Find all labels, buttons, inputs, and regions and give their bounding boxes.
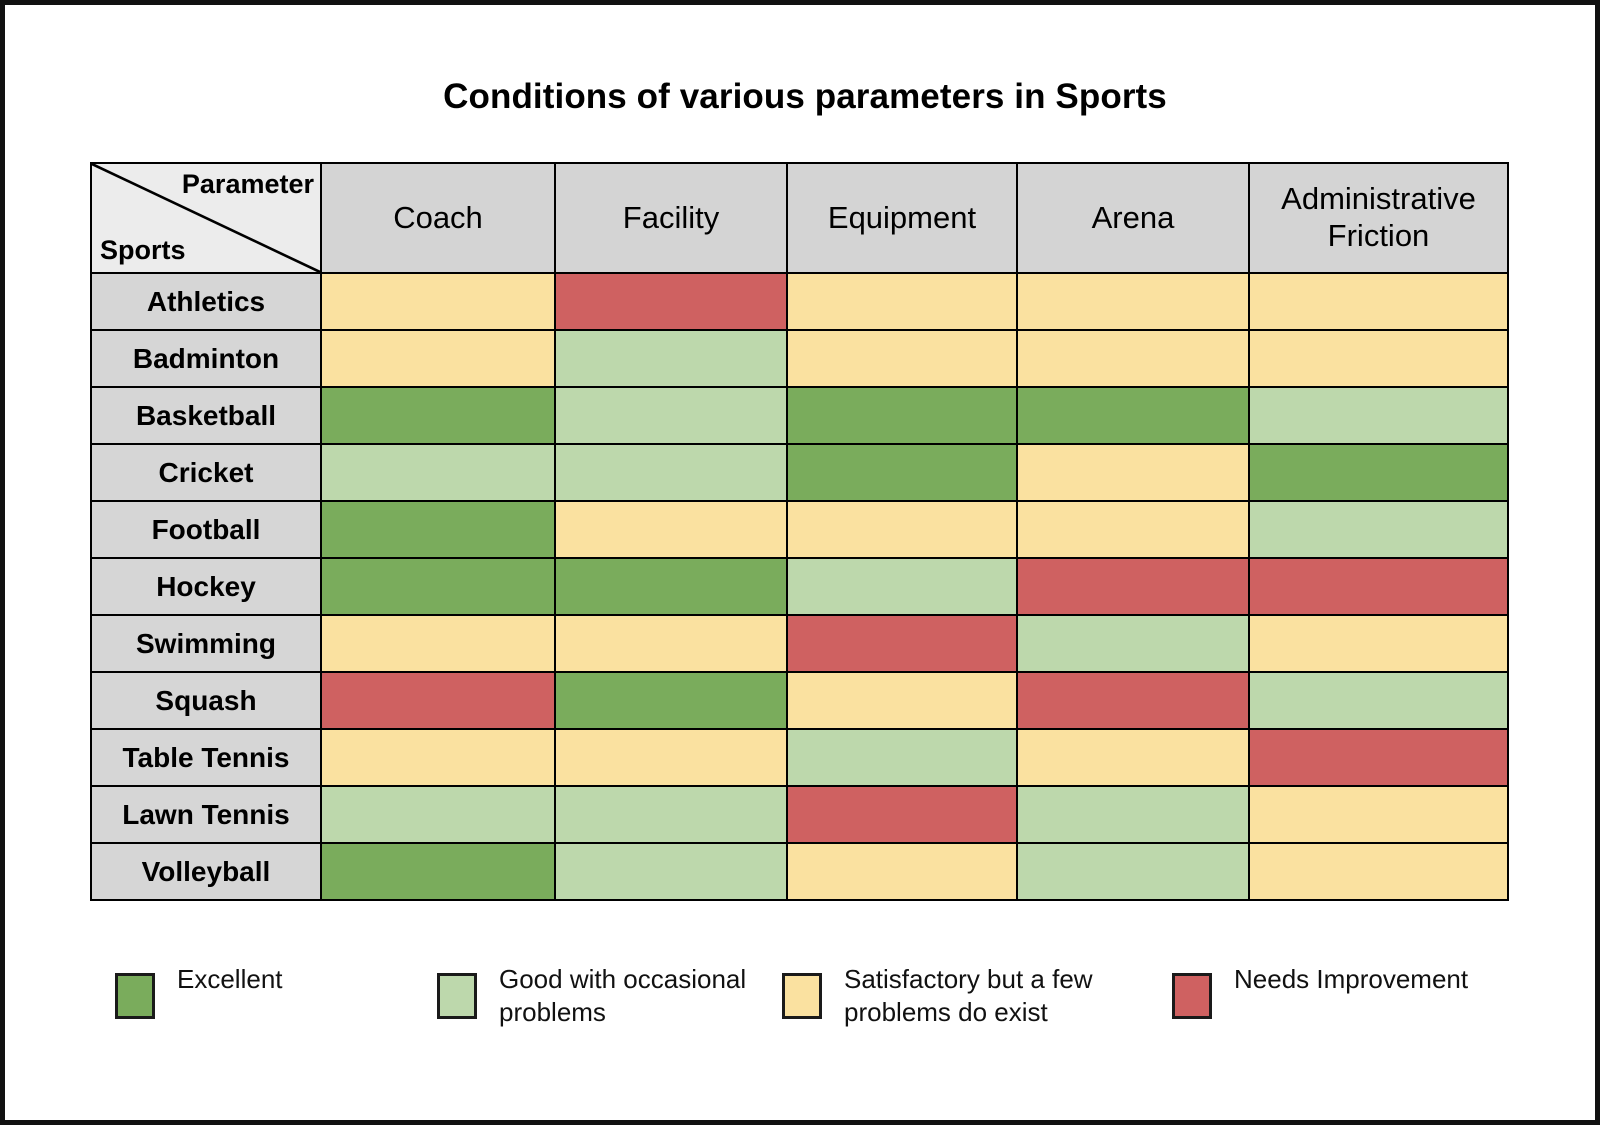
- column-header-administrative-friction: Administrative Friction: [1249, 163, 1508, 273]
- table-row: Basketball: [91, 387, 1508, 444]
- row-header-hockey: Hockey: [91, 558, 321, 615]
- legend-swatch-good-icon: [437, 973, 477, 1019]
- heatmap-cell-hockey-coach[interactable]: [321, 558, 555, 615]
- corner-sports-label: Sports: [100, 236, 186, 266]
- heatmap-cell-hockey-equipment[interactable]: [787, 558, 1017, 615]
- legend-label-excellent: Excellent: [177, 963, 283, 996]
- row-header-swimming: Swimming: [91, 615, 321, 672]
- heatmap-cell-badminton-equipment[interactable]: [787, 330, 1017, 387]
- heatmap-cell-athletics-facility[interactable]: [555, 273, 787, 330]
- heatmap-cell-squash-administrative-friction[interactable]: [1249, 672, 1508, 729]
- table-row: Volleyball: [91, 843, 1508, 900]
- heatmap-cell-volleyball-administrative-friction[interactable]: [1249, 843, 1508, 900]
- column-header-arena: Arena: [1017, 163, 1249, 273]
- heatmap-cell-football-arena[interactable]: [1017, 501, 1249, 558]
- heatmap-cell-lawn-tennis-administrative-friction[interactable]: [1249, 786, 1508, 843]
- heatmap-cell-badminton-coach[interactable]: [321, 330, 555, 387]
- heatmap-cell-football-coach[interactable]: [321, 501, 555, 558]
- heatmap-cell-basketball-arena[interactable]: [1017, 387, 1249, 444]
- row-header-lawn-tennis: Lawn Tennis: [91, 786, 321, 843]
- row-header-cricket: Cricket: [91, 444, 321, 501]
- heatmap-cell-basketball-administrative-friction[interactable]: [1249, 387, 1508, 444]
- legend-item-good[interactable]: Good with occasional problems: [437, 963, 782, 1030]
- heatmap-cell-lawn-tennis-arena[interactable]: [1017, 786, 1249, 843]
- row-header-badminton: Badminton: [91, 330, 321, 387]
- heatmap-cell-basketball-equipment[interactable]: [787, 387, 1017, 444]
- heatmap-cell-athletics-coach[interactable]: [321, 273, 555, 330]
- heatmap-cell-volleyball-coach[interactable]: [321, 843, 555, 900]
- heatmap-cell-badminton-administrative-friction[interactable]: [1249, 330, 1508, 387]
- heatmap-cell-badminton-arena[interactable]: [1017, 330, 1249, 387]
- legend-label-good: Good with occasional problems: [499, 963, 779, 1030]
- heatmap-cell-squash-equipment[interactable]: [787, 672, 1017, 729]
- heatmap-cell-hockey-facility[interactable]: [555, 558, 787, 615]
- column-header-equipment: Equipment: [787, 163, 1017, 273]
- legend-swatch-needs-icon: [1172, 973, 1212, 1019]
- row-header-basketball: Basketball: [91, 387, 321, 444]
- corner-parameter-label: Parameter: [182, 170, 314, 200]
- row-header-football: Football: [91, 501, 321, 558]
- heatmap-cell-cricket-coach[interactable]: [321, 444, 555, 501]
- row-header-table-tennis: Table Tennis: [91, 729, 321, 786]
- heatmap-cell-cricket-facility[interactable]: [555, 444, 787, 501]
- legend-label-satisfactory: Satisfactory but a few problems do exist: [844, 963, 1124, 1030]
- table-row: Squash: [91, 672, 1508, 729]
- heatmap-cell-swimming-administrative-friction[interactable]: [1249, 615, 1508, 672]
- corner-header-cell: Parameter Sports: [91, 163, 321, 273]
- heatmap-cell-squash-coach[interactable]: [321, 672, 555, 729]
- heatmap-table: Parameter Sports CoachFacilityEquipmentA…: [90, 162, 1509, 901]
- column-header-coach: Coach: [321, 163, 555, 273]
- table-row: Hockey: [91, 558, 1508, 615]
- heatmap-cell-lawn-tennis-equipment[interactable]: [787, 786, 1017, 843]
- heatmap-cell-basketball-facility[interactable]: [555, 387, 787, 444]
- legend: ExcellentGood with occasional problemsSa…: [115, 963, 1515, 1030]
- heatmap-cell-cricket-administrative-friction[interactable]: [1249, 444, 1508, 501]
- table-row: Cricket: [91, 444, 1508, 501]
- table-row: Lawn Tennis: [91, 786, 1508, 843]
- legend-swatch-satisfactory-icon: [782, 973, 822, 1019]
- heatmap-cell-football-facility[interactable]: [555, 501, 787, 558]
- heatmap-cell-squash-facility[interactable]: [555, 672, 787, 729]
- table-body: AthleticsBadmintonBasketballCricketFootb…: [91, 273, 1508, 900]
- row-header-volleyball: Volleyball: [91, 843, 321, 900]
- legend-swatch-excellent-icon: [115, 973, 155, 1019]
- heatmap-cell-table-tennis-arena[interactable]: [1017, 729, 1249, 786]
- heatmap-cell-table-tennis-administrative-friction[interactable]: [1249, 729, 1508, 786]
- heatmap-cell-hockey-arena[interactable]: [1017, 558, 1249, 615]
- heatmap-cell-volleyball-arena[interactable]: [1017, 843, 1249, 900]
- page-title: Conditions of various parameters in Spor…: [5, 77, 1600, 117]
- heatmap-cell-athletics-equipment[interactable]: [787, 273, 1017, 330]
- row-header-athletics: Athletics: [91, 273, 321, 330]
- table-header: Parameter Sports CoachFacilityEquipmentA…: [91, 163, 1508, 273]
- table-row: Football: [91, 501, 1508, 558]
- heatmap-cell-lawn-tennis-coach[interactable]: [321, 786, 555, 843]
- table-row: Table Tennis: [91, 729, 1508, 786]
- heatmap-cell-badminton-facility[interactable]: [555, 330, 787, 387]
- heatmap-cell-table-tennis-facility[interactable]: [555, 729, 787, 786]
- column-header-facility: Facility: [555, 163, 787, 273]
- heatmap-cell-athletics-administrative-friction[interactable]: [1249, 273, 1508, 330]
- heatmap-cell-swimming-coach[interactable]: [321, 615, 555, 672]
- chart-canvas: Conditions of various parameters in Spor…: [0, 0, 1600, 1125]
- row-header-squash: Squash: [91, 672, 321, 729]
- heatmap-cell-football-administrative-friction[interactable]: [1249, 501, 1508, 558]
- heatmap-cell-swimming-facility[interactable]: [555, 615, 787, 672]
- legend-label-needs: Needs Improvement: [1234, 963, 1468, 996]
- legend-item-excellent[interactable]: Excellent: [115, 963, 437, 1019]
- legend-item-needs[interactable]: Needs Improvement: [1172, 963, 1472, 1019]
- table-row: Athletics: [91, 273, 1508, 330]
- heatmap-cell-volleyball-equipment[interactable]: [787, 843, 1017, 900]
- heatmap-cell-table-tennis-coach[interactable]: [321, 729, 555, 786]
- heatmap-cell-squash-arena[interactable]: [1017, 672, 1249, 729]
- heatmap-cell-cricket-arena[interactable]: [1017, 444, 1249, 501]
- heatmap-cell-table-tennis-equipment[interactable]: [787, 729, 1017, 786]
- heatmap-cell-basketball-coach[interactable]: [321, 387, 555, 444]
- heatmap-cell-lawn-tennis-facility[interactable]: [555, 786, 787, 843]
- legend-item-satisfactory[interactable]: Satisfactory but a few problems do exist: [782, 963, 1172, 1030]
- table-row: Swimming: [91, 615, 1508, 672]
- heatmap-cell-football-equipment[interactable]: [787, 501, 1017, 558]
- heatmap-cell-swimming-arena[interactable]: [1017, 615, 1249, 672]
- heatmap-cell-cricket-equipment[interactable]: [787, 444, 1017, 501]
- heatmap-cell-swimming-equipment[interactable]: [787, 615, 1017, 672]
- heatmap-cell-volleyball-facility[interactable]: [555, 843, 787, 900]
- heatmap-cell-hockey-administrative-friction[interactable]: [1249, 558, 1508, 615]
- table-row: Badminton: [91, 330, 1508, 387]
- heatmap-cell-athletics-arena[interactable]: [1017, 273, 1249, 330]
- header-row: Parameter Sports CoachFacilityEquipmentA…: [91, 163, 1508, 273]
